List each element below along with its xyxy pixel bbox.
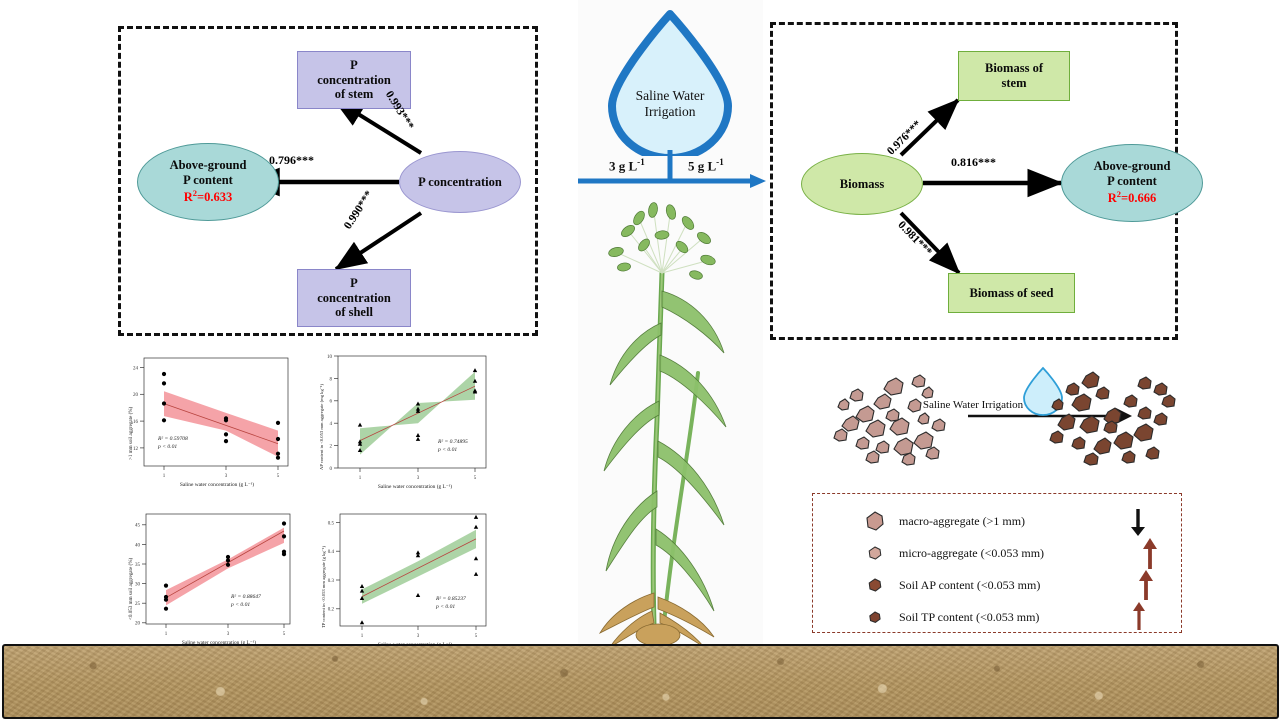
aggregate-diagram-caption: Saline Water Irrigation [913,399,1033,411]
drop-label-line2: Irrigation [600,104,740,120]
legend-item-macro-aggregate: macro-aggregate (>1 mm) [865,506,1025,536]
svg-text:45: 45 [135,524,141,529]
dose-label-5g: 5 g L-1 [688,157,724,174]
node-p-concentration-source[interactable]: P concentration [399,151,521,213]
svg-text:8: 8 [330,377,333,382]
node-above-ground-p-content-left[interactable]: Above-ground P content R2=0.633 [137,143,279,221]
svg-text:0.4: 0.4 [328,550,335,555]
svg-text:30: 30 [135,583,141,588]
svg-text:3: 3 [417,476,420,481]
plot-macro-aggregate: 2420 1612 135 >1 mm soil aggregate (%) S… [118,352,296,497]
x-axis-label: Saline water concentration (g L⁻¹) [128,482,306,488]
svg-text:20: 20 [135,622,141,627]
soil-tp-content-icon [865,607,885,627]
trend-up-arrow-icon [1141,536,1159,570]
p-annotation: p < 0.01 [158,444,188,452]
y-axis-label: TP content in <0.053 mm aggregate (g kg⁻… [321,546,327,628]
node-label-line1: Above-ground [170,158,247,173]
path-coefficient-to-shell: 0.990*** [342,189,376,232]
r2-annotation: R² = 0.85237 [436,596,466,604]
plot-ap-content-svg: 1086 420 135 [308,352,498,497]
plot-tp-content-svg: 0.50.4 0.30.2 135 [308,508,498,656]
p-annotation: p < 0.01 [438,447,468,455]
svg-text:0.3: 0.3 [328,579,335,584]
legend-label: macro-aggregate (>1 mm) [899,514,1025,529]
path-coefficient-to-stem: 0.976*** [885,119,924,158]
y-axis-label: >1 mm soil aggregate (%) [128,407,134,460]
svg-text:0.2: 0.2 [328,608,335,613]
aggregate-transformation-diagram [800,358,1192,486]
svg-text:10: 10 [327,355,333,360]
svg-text:35: 35 [135,563,141,568]
svg-text:5: 5 [475,634,478,639]
plot-ap-content: 1086 420 135 AP content in <0.053 mm agg… [308,352,498,497]
dose-label-3g: 3 g L-1 [609,157,645,174]
plot-micro-aggregate-svg: 454035 302520 135 [118,508,300,656]
svg-text:40: 40 [135,543,141,548]
svg-text:24: 24 [133,366,139,371]
r2-annotation: R² = 0.74895 [438,439,468,447]
svg-text:3: 3 [227,632,230,637]
plot-annotation: R² = 0.88647 p < 0.01 [231,594,261,609]
legend-item-soil-tp-content: Soil TP content (<0.053 mm) [865,602,1039,632]
node-label: Biomass [840,177,884,192]
sem-panel-biomass: Biomass of stem Biomass of seed Biomass … [770,22,1178,340]
node-label: Biomass of seed [969,286,1053,301]
node-label-line2: P content [1107,174,1157,189]
node-above-ground-p-content-right[interactable]: Above-ground P content R2=0.666 [1061,144,1203,222]
legend-label: Soil AP content (<0.053 mm) [899,578,1040,593]
node-label: P concentration of shell [317,276,391,320]
node-p-concentration-of-shell[interactable]: P concentration of shell [297,269,411,327]
svg-text:5: 5 [277,474,280,479]
svg-text:5: 5 [283,632,286,637]
plot-tp-content: 0.50.4 0.30.2 135 TP content in <0.053 m… [308,508,498,656]
legend-item-micro-aggregate: micro-aggregate (<0.053 mm) [865,538,1044,568]
svg-text:2: 2 [330,445,333,450]
node-label: P concentration of stem [317,58,391,102]
svg-text:1: 1 [163,474,166,479]
node-label: P concentration [418,175,502,190]
soil-texture-band [2,644,1279,719]
svg-text:3: 3 [417,634,420,639]
oat-plant-illustration [578,195,763,647]
figure-canvas: P concentration of stem P concentration … [0,0,1281,719]
node-biomass-source[interactable]: Biomass [801,153,923,215]
plot-annotation: R² = 0.85237 p < 0.01 [436,596,466,611]
node-label-line2: P content [183,173,233,188]
r2-annotation: R² = 0.88647 [231,594,261,602]
svg-text:25: 25 [135,602,141,607]
svg-text:5: 5 [474,476,477,481]
svg-text:20: 20 [133,393,139,398]
legend-panel: macro-aggregate (>1 mm) micro-aggregate … [812,493,1182,633]
svg-text:1: 1 [165,632,168,637]
dose-axis [578,150,768,195]
y-axis-label: <0.053 mm soil aggregate (%) [128,558,134,620]
r2-value-left: R2=0.633 [184,188,233,205]
node-biomass-of-stem[interactable]: Biomass of stem [958,51,1070,101]
path-coefficient-to-seed: 0.981*** [895,219,934,258]
svg-text:4: 4 [330,422,333,427]
trend-up-arrow-icon [1137,569,1155,601]
node-biomass-of-seed[interactable]: Biomass of seed [948,273,1075,313]
trend-up-arrow-icon [1131,601,1147,631]
plot-micro-aggregate: 454035 302520 135 <0.053 mm soil aggrega… [118,508,300,656]
legend-label: micro-aggregate (<0.053 mm) [899,546,1044,561]
macro-aggregate-icon [865,511,885,531]
svg-text:0: 0 [330,467,333,472]
drop-label-line1: Saline Water [600,88,740,104]
trend-down-arrow-icon [1129,507,1147,537]
svg-text:1: 1 [359,476,362,481]
path-coefficient-to-p-content: 0.816*** [951,155,996,170]
sem-panel-p-concentration: P concentration of stem P concentration … [118,26,538,336]
micro-aggregate-icon [865,543,885,563]
svg-text:6: 6 [330,400,333,405]
plot-annotation: R² = 0.59708 p < 0.01 [158,436,188,451]
legend-label: Soil TP content (<0.053 mm) [899,610,1039,625]
svg-text:1: 1 [361,634,364,639]
node-label-line1: Above-ground [1094,159,1171,174]
r2-annotation: R² = 0.59708 [158,436,188,444]
plot-macro-aggregate-svg: 2420 1612 135 [118,352,296,497]
plot-annotation: R² = 0.74895 p < 0.01 [438,439,468,454]
r2-value-right: R2=0.666 [1108,189,1157,206]
x-axis-label: Saline water concentration (g L⁻¹) [320,484,510,490]
y-axis-label: AP content in <0.053 mm aggregate (mg kg… [319,384,325,470]
p-annotation: p < 0.01 [436,604,466,612]
soil-ap-content-icon [865,575,885,595]
water-drop-label: Saline Water Irrigation [600,88,740,121]
water-drop-icon [592,6,752,156]
path-coefficient-to-p-content: 0.796*** [269,153,314,168]
legend-item-soil-ap-content: Soil AP content (<0.053 mm) [865,570,1040,600]
svg-text:3: 3 [225,474,228,479]
svg-text:0.5: 0.5 [328,521,335,526]
p-annotation: p < 0.01 [231,602,261,610]
node-label: Biomass of stem [985,61,1043,91]
